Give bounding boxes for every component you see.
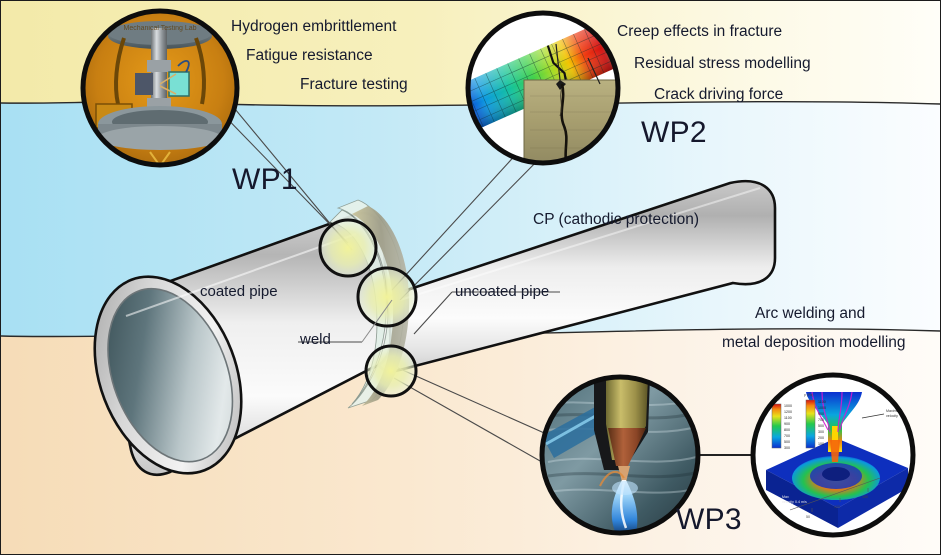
svg-text:500: 500 <box>818 424 824 428</box>
wp3-bullet-2: metal deposition modelling <box>722 334 906 352</box>
svg-text:50: 50 <box>806 515 810 519</box>
svg-text:300: 300 <box>784 446 790 450</box>
svg-text:150: 150 <box>862 495 868 499</box>
uncoated-pipe-label: uncoated pipe <box>455 283 549 300</box>
svg-text:velocity 0.4 m/s: velocity 0.4 m/s <box>782 500 807 504</box>
svg-text:1100: 1100 <box>784 416 792 420</box>
svg-text:Max: Max <box>782 495 789 499</box>
svg-text:1000: 1000 <box>818 406 826 410</box>
svg-text:700: 700 <box>784 434 790 438</box>
svg-text:velocity: velocity <box>886 414 898 418</box>
svg-text:800: 800 <box>784 428 790 432</box>
svg-text:300: 300 <box>818 430 824 434</box>
svg-text:100: 100 <box>818 442 824 446</box>
svg-text:1200: 1200 <box>784 410 792 414</box>
svg-text:100: 100 <box>834 505 840 509</box>
wp1-bullet-1: Hydrogen embrittlement <box>231 18 396 36</box>
wp3-label: WP3 <box>676 503 742 537</box>
svg-text:900: 900 <box>818 412 824 416</box>
figure-canvas: Mechanical Testing Lab <box>0 0 941 555</box>
wp2-bullet-1: Creep effects in fracture <box>617 23 782 41</box>
wp1-label: WP1 <box>232 163 298 197</box>
wp3-sim-bubble[interactable]: 10001200 1100900 800700 500300 T (K) 110… <box>0 0 941 555</box>
svg-text:p (Pa): p (Pa) <box>804 393 813 397</box>
wp1-bullet-3: Fracture testing <box>300 76 408 94</box>
cathodic-protection-label: CP (cathodic protection) <box>533 211 699 229</box>
wp3-bullet-1: Arc welding and <box>755 305 865 323</box>
svg-text:1100: 1100 <box>818 400 826 404</box>
wp2-label: WP2 <box>641 116 707 150</box>
svg-text:200: 200 <box>818 436 824 440</box>
svg-text:1000: 1000 <box>784 404 792 408</box>
svg-text:900: 900 <box>784 422 790 426</box>
sim-colorbar-right: 11001000 900700 500300 200100 p (Pa) <box>804 393 826 448</box>
svg-text:700: 700 <box>818 418 824 422</box>
coated-pipe-label: coated pipe <box>200 283 278 300</box>
weld-label: weld <box>300 331 331 348</box>
wp2-bullet-3: Crack driving force <box>654 86 783 104</box>
svg-text:500: 500 <box>784 440 790 444</box>
wp2-bullet-2: Residual stress modelling <box>634 55 811 73</box>
wp1-bullet-2: Fatigue resistance <box>246 47 373 65</box>
